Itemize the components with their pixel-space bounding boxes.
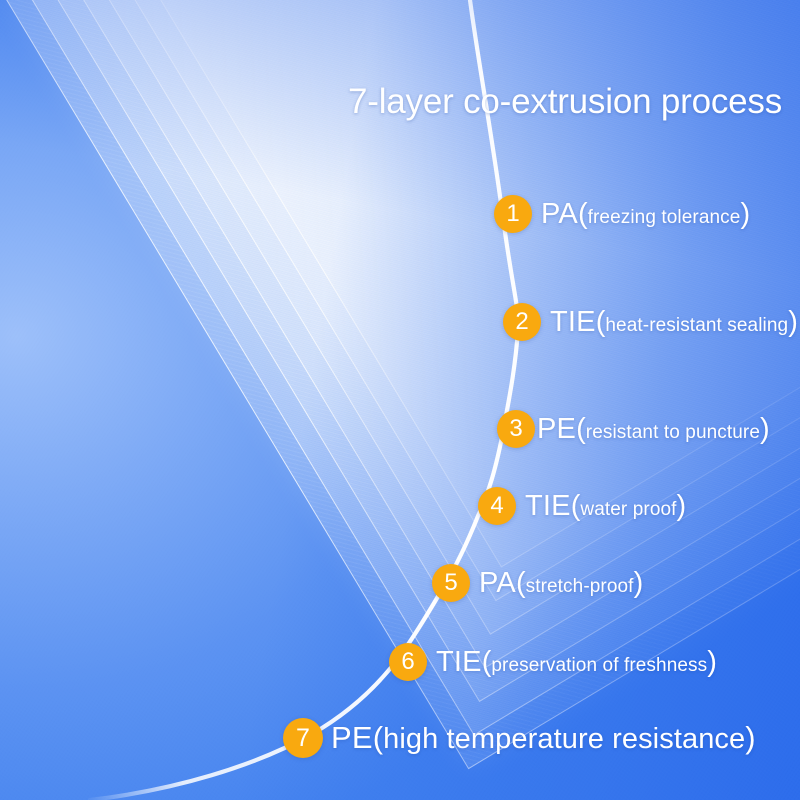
layer-label-1: PA(freezing tolerance) bbox=[541, 198, 750, 231]
layer-badge-2: 2 bbox=[503, 303, 541, 341]
layer-label-5: PA(stretch-proof) bbox=[479, 567, 643, 600]
layer-desc-2: heat-resistant sealing bbox=[605, 315, 788, 336]
layer-item-2[interactable]: 2 TIE(heat-resistant sealing) bbox=[503, 303, 798, 341]
layer-item-4[interactable]: 4 TIE(water proof) bbox=[478, 487, 686, 525]
layer-desc-4: water proof bbox=[580, 499, 676, 520]
layer-paren-close-5: ) bbox=[634, 567, 644, 599]
page-title: 7-layer co-extrusion process bbox=[348, 82, 790, 122]
layer-code-2: TIE bbox=[550, 306, 596, 338]
layer-code-7: PE bbox=[331, 720, 373, 755]
layer-item-5[interactable]: 5 PA(stretch-proof) bbox=[432, 564, 643, 602]
layer-desc-7: high temperature resistance bbox=[383, 723, 745, 755]
layer-label-4: TIE(water proof) bbox=[525, 490, 686, 523]
layer-paren-close-3: ) bbox=[760, 413, 770, 445]
layer-item-7[interactable]: 7 PE(high temperature resistance) bbox=[283, 718, 756, 758]
layer-badge-7: 7 bbox=[283, 718, 323, 758]
layer-paren-open-3: ( bbox=[576, 413, 586, 445]
layer-badge-6: 6 bbox=[389, 643, 427, 681]
layer-paren-close-4: ) bbox=[677, 490, 687, 522]
layer-desc-3: resistant to puncture bbox=[586, 422, 760, 443]
layer-badge-5: 5 bbox=[432, 564, 470, 602]
layer-item-3[interactable]: 3 PE(resistant to puncture) bbox=[497, 410, 770, 448]
layer-label-6: TIE(preservation of freshness) bbox=[436, 646, 717, 679]
layer-badge-3: 3 bbox=[497, 410, 535, 448]
layer-code-4: TIE bbox=[525, 490, 571, 522]
layer-badge-4: 4 bbox=[478, 487, 516, 525]
layer-label-7: PE(high temperature resistance) bbox=[331, 720, 756, 756]
layer-paren-open-2: ( bbox=[596, 306, 606, 338]
layer-label-3: PE(resistant to puncture) bbox=[537, 413, 770, 446]
layer-item-1[interactable]: 1 PA(freezing tolerance) bbox=[494, 195, 750, 233]
layer-code-1: PA bbox=[541, 198, 578, 230]
layer-code-3: PE bbox=[537, 413, 576, 445]
layer-code-6: TIE bbox=[436, 646, 482, 678]
layer-paren-open-7: ( bbox=[373, 720, 383, 755]
layer-badge-1: 1 bbox=[494, 195, 532, 233]
layer-paren-close-6: ) bbox=[707, 646, 717, 678]
layer-paren-open-5: ( bbox=[516, 567, 526, 599]
product-infographic: 7-layer co-extrusion process 1 PA(freezi… bbox=[0, 0, 800, 800]
layer-paren-close-2: ) bbox=[788, 306, 798, 338]
layer-label-2: TIE(heat-resistant sealing) bbox=[550, 306, 798, 339]
layer-code-5: PA bbox=[479, 567, 516, 599]
layer-paren-close-1: ) bbox=[740, 198, 750, 230]
layer-paren-open-1: ( bbox=[578, 198, 588, 230]
layer-paren-open-4: ( bbox=[571, 490, 581, 522]
layer-desc-1: freezing tolerance bbox=[588, 207, 741, 228]
layer-item-6[interactable]: 6 TIE(preservation of freshness) bbox=[389, 643, 717, 681]
layer-paren-open-6: ( bbox=[482, 646, 492, 678]
layer-desc-5: stretch-proof bbox=[526, 576, 634, 597]
layer-desc-6: preservation of freshness bbox=[491, 655, 707, 676]
layer-paren-close-7: ) bbox=[745, 720, 755, 755]
